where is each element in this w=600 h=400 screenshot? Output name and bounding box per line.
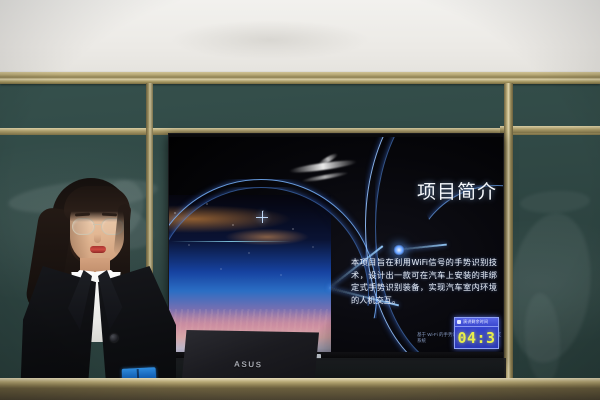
countdown-timer-widget[interactable]: 演讲剩余时间 04:3 <box>454 317 499 349</box>
chalkboard-frame-rail-right-segment <box>500 126 600 133</box>
network-node-icon <box>393 244 405 256</box>
screen-glare <box>301 171 349 183</box>
presentation-display[interactable]: 项目简介 本项目旨在利用WiFi信号的手势识别技术，设计出一款可在汽车上安装的非… <box>168 133 504 361</box>
clock-icon <box>457 320 461 324</box>
lips <box>90 246 106 253</box>
classroom-wall <box>0 0 600 78</box>
presentation-slide: 项目简介 本项目旨在利用WiFi信号的手势识别技术，设计出一款可在汽车上安装的非… <box>169 137 503 352</box>
wall-smudge <box>170 20 370 60</box>
laptop-brand-logo: ASUS <box>234 360 263 370</box>
presenter <box>14 178 184 400</box>
chalk-tray-rail <box>0 378 600 388</box>
slide-title: 项目简介 <box>417 177 497 204</box>
slide-body-text: 本项目旨在利用WiFi信号的手势识别技术，设计出一款可在汽车上安装的非绑定式手势… <box>351 256 497 307</box>
countdown-timer-label: 演讲剩余时间 <box>463 319 488 325</box>
chalkboard-frame-vertical-divider-right <box>504 83 513 400</box>
countdown-timer-value: 04:3 <box>455 327 498 349</box>
star-burst-icon <box>256 211 268 223</box>
chalk-tray-shadow <box>0 388 600 400</box>
presentation-scene: 项目简介 本项目旨在利用WiFi信号的手势识别技术，设计出一款可在汽车上安装的非… <box>0 0 600 400</box>
blazer-button <box>110 334 118 342</box>
nose <box>94 234 101 243</box>
eyeglass-bridge <box>93 224 101 225</box>
chalk-smear <box>519 189 590 215</box>
countdown-timer-header: 演讲剩余时间 <box>455 318 498 327</box>
